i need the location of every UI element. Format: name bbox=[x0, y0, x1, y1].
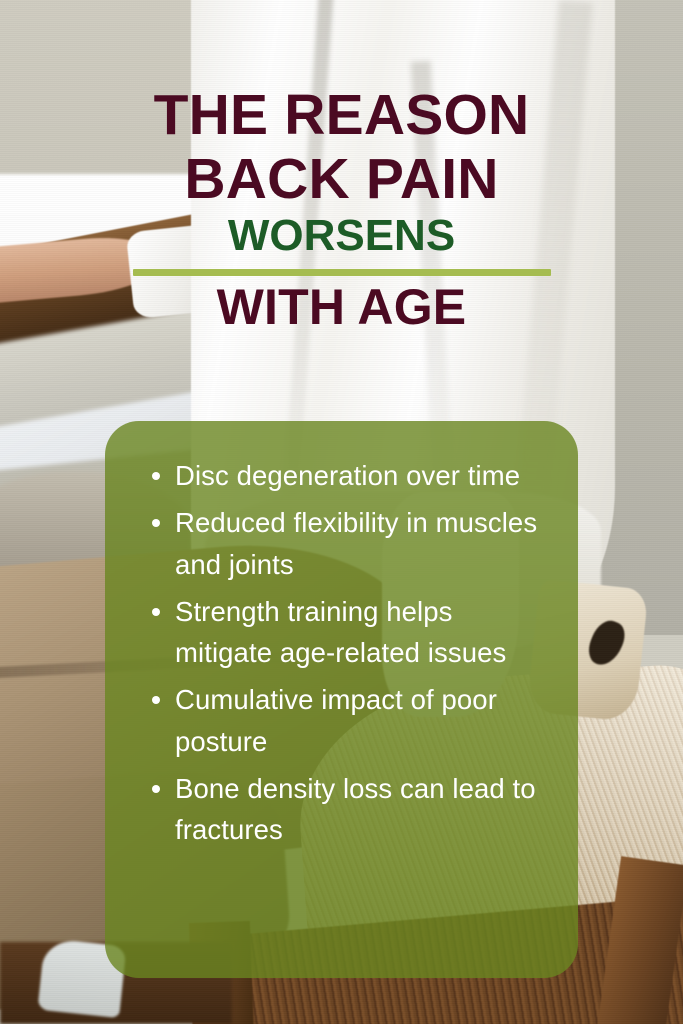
pinterest-infographic-pin: THE REASON BACK PAIN WORSENS WITH AGE Di… bbox=[0, 0, 683, 1024]
headline-line-3-emphasis: WORSENS bbox=[0, 214, 683, 259]
list-item: Strength training helps mitigate age-rel… bbox=[131, 591, 552, 674]
list-item: Reduced flexibility in muscles and joint… bbox=[131, 502, 552, 585]
list-item: Disc degeneration over time bbox=[131, 455, 552, 496]
headline-line-2: BACK PAIN bbox=[0, 150, 683, 208]
list-item: Cumulative impact of poor posture bbox=[131, 679, 552, 762]
headline-line-1: THE REASON bbox=[0, 86, 683, 144]
green-bullet-card: Disc degeneration over time Reduced flex… bbox=[105, 421, 578, 978]
headline-line-4: WITH AGE bbox=[0, 282, 683, 333]
list-item: Bone density loss can lead to fractures bbox=[131, 768, 552, 851]
bullet-list: Disc degeneration over time Reduced flex… bbox=[131, 455, 552, 850]
headline-block: THE REASON BACK PAIN WORSENS WITH AGE bbox=[0, 86, 683, 333]
headline-divider bbox=[133, 269, 551, 276]
